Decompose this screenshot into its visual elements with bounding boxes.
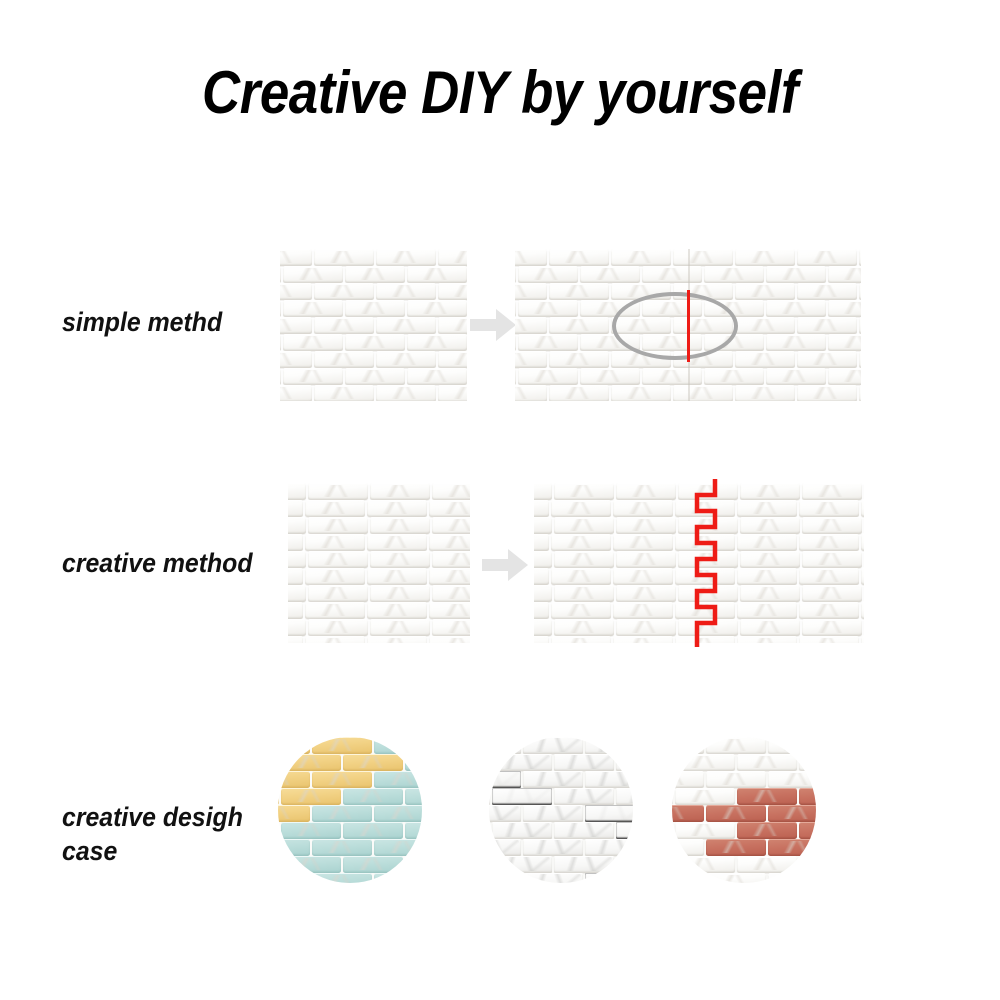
brick bbox=[515, 283, 547, 300]
brick bbox=[554, 517, 614, 534]
brick bbox=[405, 822, 422, 839]
brick bbox=[405, 788, 422, 805]
brick bbox=[585, 805, 633, 822]
brick bbox=[616, 856, 633, 873]
brick bbox=[740, 551, 800, 568]
brick bbox=[438, 351, 467, 368]
brick bbox=[672, 873, 704, 883]
brick bbox=[672, 754, 673, 771]
brick bbox=[766, 334, 826, 351]
brick bbox=[737, 754, 797, 771]
right-arrow-icon bbox=[470, 308, 516, 342]
brick bbox=[492, 788, 552, 805]
brick-row bbox=[288, 534, 470, 551]
brick bbox=[429, 500, 470, 517]
brick bbox=[737, 856, 797, 873]
brick bbox=[673, 249, 733, 266]
brick-row bbox=[489, 839, 633, 856]
brick bbox=[432, 483, 470, 500]
brick bbox=[799, 602, 859, 619]
brick bbox=[802, 517, 862, 534]
brick bbox=[675, 822, 735, 839]
brick bbox=[374, 873, 422, 883]
brick bbox=[280, 368, 281, 385]
brick bbox=[312, 737, 372, 754]
brick bbox=[288, 483, 306, 500]
brick bbox=[288, 602, 303, 619]
brick bbox=[672, 805, 704, 822]
brick bbox=[432, 551, 470, 568]
brick bbox=[515, 317, 547, 334]
brick bbox=[585, 873, 633, 883]
brick bbox=[534, 517, 552, 534]
brick bbox=[278, 771, 310, 788]
brick-row bbox=[278, 788, 422, 805]
brick bbox=[861, 534, 864, 551]
brick-row bbox=[672, 873, 816, 883]
brick-row bbox=[672, 822, 816, 839]
brick bbox=[523, 771, 583, 788]
brick bbox=[370, 483, 430, 500]
brick-row bbox=[288, 602, 470, 619]
brick bbox=[523, 737, 583, 754]
brick-row bbox=[278, 873, 422, 883]
brick bbox=[489, 822, 490, 839]
brick bbox=[737, 568, 797, 585]
brick bbox=[523, 839, 583, 856]
brick-row bbox=[672, 856, 816, 873]
brick bbox=[278, 737, 310, 754]
brick-row bbox=[489, 805, 633, 822]
brick-row bbox=[278, 737, 422, 754]
brick bbox=[766, 300, 826, 317]
brick bbox=[432, 585, 470, 602]
brick bbox=[305, 636, 365, 643]
brick bbox=[312, 771, 372, 788]
brick bbox=[672, 856, 673, 873]
brick bbox=[706, 771, 766, 788]
brick bbox=[740, 483, 800, 500]
brick bbox=[429, 534, 470, 551]
brick bbox=[343, 788, 403, 805]
right-arrow-icon bbox=[482, 548, 528, 582]
brick bbox=[370, 551, 430, 568]
brick bbox=[518, 334, 578, 351]
brick bbox=[861, 636, 864, 643]
brick bbox=[672, 737, 704, 754]
brick bbox=[280, 385, 312, 401]
brick bbox=[407, 300, 467, 317]
brick bbox=[768, 805, 816, 822]
brick bbox=[802, 619, 862, 636]
brick bbox=[799, 856, 816, 873]
row-label-creative-method: creative method bbox=[62, 546, 253, 580]
brick bbox=[616, 822, 633, 839]
brick bbox=[672, 771, 704, 788]
brick bbox=[534, 636, 549, 643]
brick-row bbox=[489, 737, 633, 754]
brick bbox=[534, 602, 549, 619]
brick bbox=[370, 517, 430, 534]
brick bbox=[308, 517, 368, 534]
brick bbox=[489, 788, 490, 805]
brick-row bbox=[288, 551, 470, 568]
brick bbox=[675, 856, 735, 873]
brick bbox=[534, 551, 552, 568]
brick bbox=[828, 368, 861, 385]
brick bbox=[737, 636, 797, 643]
brick bbox=[673, 385, 733, 401]
brick bbox=[407, 334, 467, 351]
brick bbox=[489, 771, 521, 788]
brick bbox=[489, 839, 521, 856]
brick bbox=[534, 619, 552, 636]
brick-row bbox=[288, 517, 470, 534]
brick bbox=[367, 602, 427, 619]
brick bbox=[613, 602, 673, 619]
brick bbox=[675, 534, 735, 551]
brick bbox=[859, 249, 861, 266]
brick-row bbox=[278, 771, 422, 788]
brick bbox=[534, 500, 549, 517]
brick bbox=[613, 636, 673, 643]
brick bbox=[523, 873, 583, 883]
brick bbox=[278, 754, 279, 771]
brick bbox=[706, 737, 766, 754]
row-label-simple-method: simple methd bbox=[62, 305, 222, 339]
brick bbox=[288, 551, 306, 568]
brick bbox=[283, 300, 343, 317]
brick-row bbox=[534, 636, 864, 643]
brick bbox=[374, 805, 422, 822]
brick bbox=[376, 351, 436, 368]
brick-panel-creative-before bbox=[288, 483, 470, 643]
brick bbox=[314, 283, 374, 300]
brick-row bbox=[280, 249, 467, 266]
brick bbox=[374, 839, 422, 856]
brick bbox=[675, 602, 735, 619]
brick bbox=[429, 602, 470, 619]
brick-row bbox=[672, 754, 816, 771]
brick-row bbox=[288, 568, 470, 585]
brick-row bbox=[489, 856, 633, 873]
brick bbox=[549, 317, 609, 334]
brick bbox=[704, 266, 764, 283]
brick bbox=[611, 385, 671, 401]
brick-row bbox=[489, 873, 633, 883]
brick-row bbox=[280, 300, 467, 317]
brick bbox=[797, 249, 857, 266]
brick bbox=[280, 300, 281, 317]
brick bbox=[554, 585, 614, 602]
brick bbox=[549, 351, 609, 368]
brick bbox=[407, 266, 467, 283]
brick bbox=[308, 551, 368, 568]
brick-row bbox=[280, 351, 467, 368]
brick bbox=[859, 385, 861, 401]
brick bbox=[740, 619, 800, 636]
brick bbox=[288, 636, 303, 643]
brick bbox=[314, 385, 374, 401]
brick bbox=[735, 385, 795, 401]
brick bbox=[438, 317, 467, 334]
brick bbox=[280, 266, 281, 283]
brick bbox=[376, 385, 436, 401]
brick bbox=[799, 822, 816, 839]
brick-row bbox=[280, 283, 467, 300]
brick bbox=[735, 317, 795, 334]
brick bbox=[554, 619, 614, 636]
brick-row bbox=[534, 551, 864, 568]
brick bbox=[288, 534, 303, 551]
brick bbox=[308, 585, 368, 602]
brick bbox=[706, 839, 766, 856]
brick bbox=[551, 534, 611, 551]
brick bbox=[675, 636, 735, 643]
brick bbox=[737, 500, 797, 517]
row-label-design-case: creative desigh case bbox=[62, 800, 243, 868]
brick bbox=[281, 754, 341, 771]
brick bbox=[281, 822, 341, 839]
brick bbox=[678, 483, 738, 500]
brick bbox=[280, 317, 312, 334]
brick-row bbox=[278, 822, 422, 839]
brick bbox=[740, 585, 800, 602]
brick-row bbox=[280, 317, 467, 334]
brick bbox=[489, 754, 490, 771]
brick bbox=[616, 754, 633, 771]
brick bbox=[288, 619, 306, 636]
brick-row bbox=[280, 385, 467, 401]
brick bbox=[554, 551, 614, 568]
brick bbox=[370, 619, 430, 636]
brick bbox=[859, 351, 861, 368]
brick bbox=[489, 805, 521, 822]
brick bbox=[407, 368, 467, 385]
brick bbox=[376, 317, 436, 334]
brick bbox=[281, 856, 341, 873]
brick bbox=[288, 568, 303, 585]
brick bbox=[305, 602, 365, 619]
brick bbox=[616, 788, 633, 805]
brick bbox=[288, 585, 306, 602]
brick bbox=[376, 249, 436, 266]
brick-row bbox=[288, 585, 470, 602]
brick bbox=[737, 822, 797, 839]
brick bbox=[766, 368, 826, 385]
brick bbox=[489, 856, 490, 873]
brick bbox=[278, 805, 310, 822]
brick bbox=[429, 636, 470, 643]
brick bbox=[554, 856, 614, 873]
brick bbox=[554, 754, 614, 771]
brick bbox=[678, 517, 738, 534]
brick bbox=[370, 585, 430, 602]
brick bbox=[283, 368, 343, 385]
brick bbox=[280, 351, 312, 368]
brick-row bbox=[534, 568, 864, 585]
brick bbox=[345, 300, 405, 317]
brick bbox=[799, 568, 859, 585]
brick bbox=[438, 283, 467, 300]
brick bbox=[766, 266, 826, 283]
brick bbox=[518, 368, 578, 385]
brick bbox=[799, 534, 859, 551]
brick bbox=[735, 249, 795, 266]
page-title: Creative DIY by yourself bbox=[60, 56, 940, 130]
brick bbox=[797, 317, 857, 334]
brick bbox=[554, 483, 614, 500]
brick bbox=[859, 283, 861, 300]
brick bbox=[534, 568, 549, 585]
brick bbox=[551, 568, 611, 585]
brick bbox=[492, 754, 552, 771]
brick-row bbox=[489, 754, 633, 771]
brick bbox=[616, 619, 676, 636]
brick bbox=[281, 788, 341, 805]
brick bbox=[616, 517, 676, 534]
brick bbox=[768, 873, 816, 883]
brick bbox=[802, 483, 862, 500]
seam-marker-line bbox=[687, 290, 690, 362]
brick bbox=[405, 856, 422, 873]
brick bbox=[768, 771, 816, 788]
brick-row bbox=[672, 737, 816, 754]
design-case-terracotta bbox=[672, 737, 816, 883]
brick bbox=[367, 500, 427, 517]
brick bbox=[432, 517, 470, 534]
brick bbox=[515, 266, 516, 283]
brick bbox=[312, 805, 372, 822]
brick bbox=[429, 568, 470, 585]
brick bbox=[314, 351, 374, 368]
brick bbox=[549, 249, 609, 266]
brick bbox=[737, 602, 797, 619]
brick bbox=[288, 517, 306, 534]
brick bbox=[859, 317, 861, 334]
brick-row bbox=[280, 334, 467, 351]
brick bbox=[642, 368, 702, 385]
brick bbox=[280, 249, 312, 266]
brick-panel-simple-before bbox=[280, 249, 467, 401]
brick bbox=[554, 788, 614, 805]
brick bbox=[802, 551, 862, 568]
brick-row bbox=[534, 500, 864, 517]
brick bbox=[534, 585, 552, 602]
brick bbox=[432, 619, 470, 636]
brick bbox=[675, 500, 735, 517]
brick bbox=[305, 534, 365, 551]
brick-row bbox=[672, 805, 816, 822]
brick bbox=[278, 873, 310, 883]
brick-row bbox=[278, 839, 422, 856]
brick bbox=[797, 385, 857, 401]
brick-row bbox=[288, 636, 470, 643]
brick bbox=[308, 619, 368, 636]
brick bbox=[515, 351, 547, 368]
brick bbox=[308, 483, 368, 500]
highlight-ellipse-icon bbox=[612, 292, 738, 360]
brick bbox=[278, 839, 310, 856]
design-case-black-white bbox=[489, 737, 633, 883]
brick bbox=[797, 351, 857, 368]
brick bbox=[675, 754, 735, 771]
brick bbox=[802, 585, 862, 602]
brick bbox=[672, 822, 673, 839]
brick bbox=[489, 873, 521, 883]
brick-row bbox=[672, 839, 816, 856]
brick bbox=[367, 534, 427, 551]
brick-panel-creative-after bbox=[534, 483, 864, 643]
brick bbox=[515, 334, 516, 351]
brick bbox=[551, 500, 611, 517]
brick bbox=[613, 568, 673, 585]
brick-row bbox=[280, 266, 467, 283]
brick bbox=[551, 602, 611, 619]
brick bbox=[678, 551, 738, 568]
brick bbox=[580, 266, 640, 283]
brick bbox=[489, 737, 521, 754]
brick bbox=[585, 771, 633, 788]
brick bbox=[861, 500, 864, 517]
brick-row bbox=[288, 619, 470, 636]
brick bbox=[515, 300, 516, 317]
brick-row bbox=[489, 771, 633, 788]
brick bbox=[278, 856, 279, 873]
brick bbox=[515, 249, 547, 266]
brick bbox=[611, 249, 671, 266]
brick bbox=[672, 788, 673, 805]
brick bbox=[288, 500, 303, 517]
brick bbox=[343, 822, 403, 839]
brick-row bbox=[288, 500, 470, 517]
brick bbox=[283, 334, 343, 351]
brick bbox=[554, 822, 614, 839]
brick bbox=[585, 839, 633, 856]
brick bbox=[305, 500, 365, 517]
brick bbox=[312, 839, 372, 856]
brick bbox=[551, 636, 611, 643]
brick bbox=[675, 788, 735, 805]
brick bbox=[613, 500, 673, 517]
brick bbox=[492, 822, 552, 839]
brick bbox=[828, 300, 861, 317]
brick bbox=[314, 317, 374, 334]
brick bbox=[642, 266, 702, 283]
brick bbox=[828, 334, 861, 351]
brick bbox=[737, 788, 797, 805]
brick bbox=[376, 283, 436, 300]
brick bbox=[799, 788, 816, 805]
brick bbox=[861, 568, 864, 585]
brick bbox=[706, 873, 766, 883]
brick bbox=[345, 334, 405, 351]
brick-row bbox=[534, 483, 864, 500]
brick-row bbox=[534, 534, 864, 551]
brick bbox=[737, 534, 797, 551]
brick bbox=[367, 636, 427, 643]
brick bbox=[799, 636, 859, 643]
brick bbox=[828, 266, 861, 283]
brick bbox=[518, 300, 578, 317]
brick bbox=[799, 754, 816, 771]
brick-row bbox=[278, 856, 422, 873]
brick bbox=[861, 602, 864, 619]
brick-row bbox=[278, 805, 422, 822]
brick bbox=[616, 551, 676, 568]
brick bbox=[740, 517, 800, 534]
brick-row bbox=[278, 754, 422, 771]
